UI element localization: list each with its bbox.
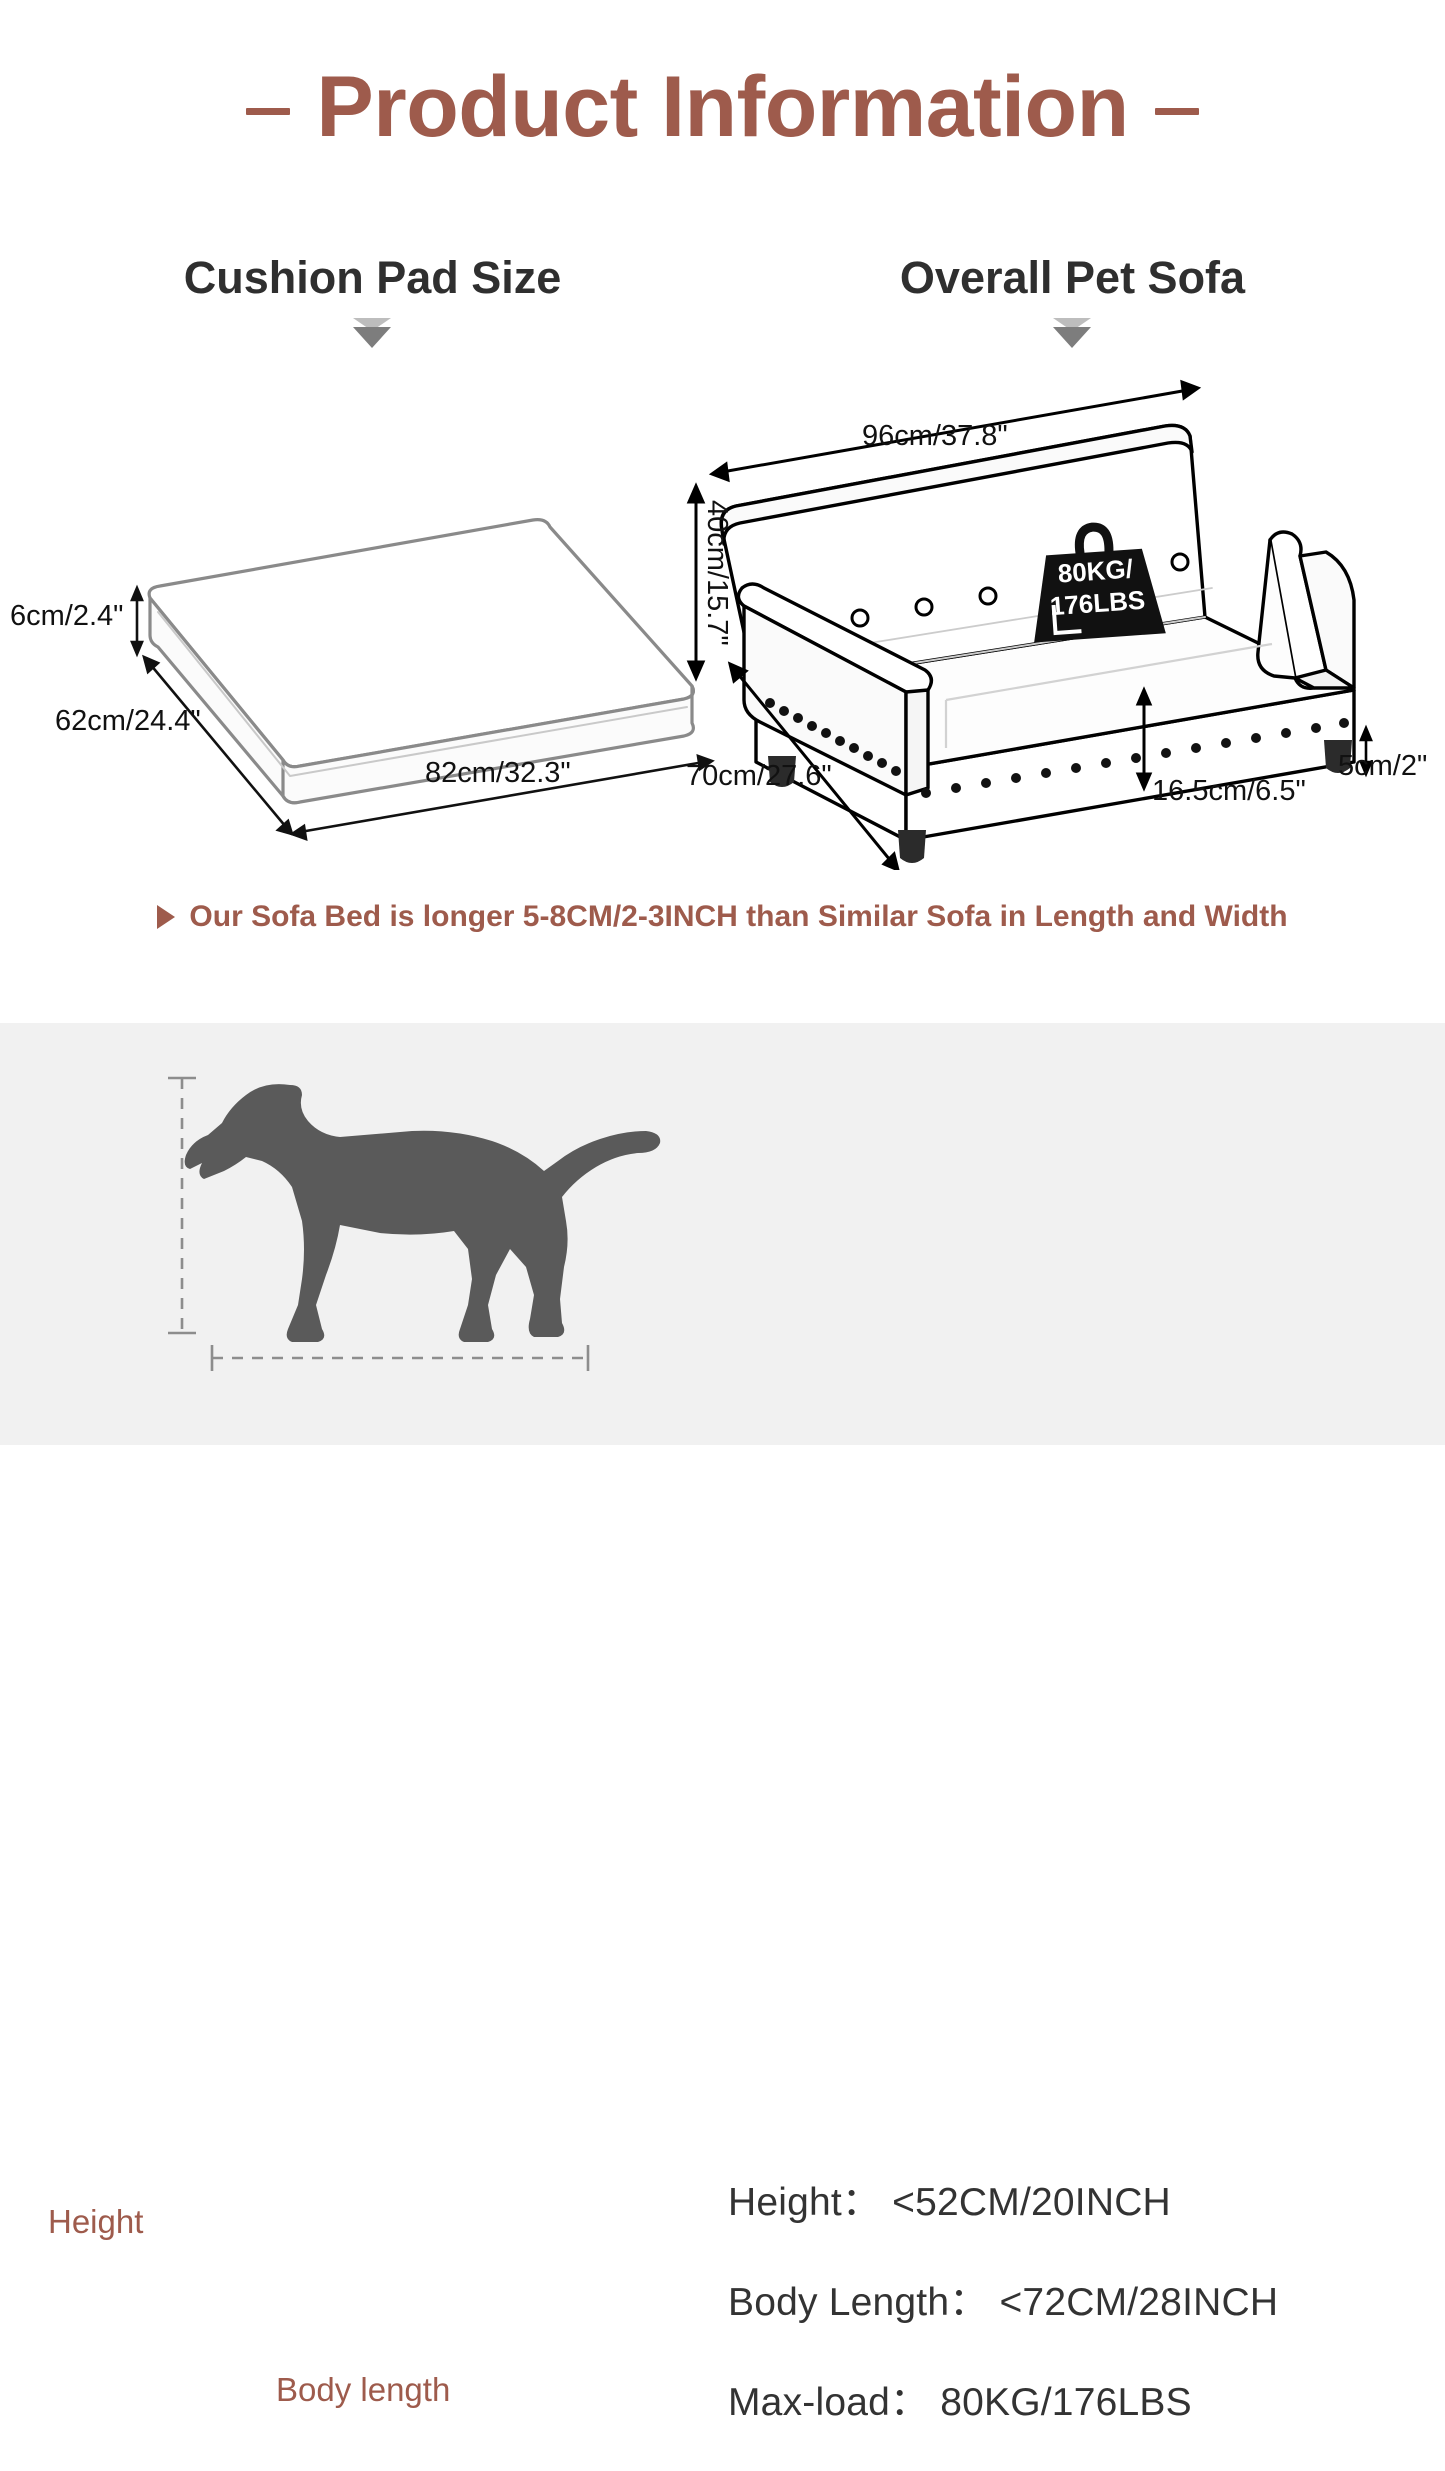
cushion-depth-label: 62cm/24.4" bbox=[55, 705, 201, 738]
cushion-pad-illustration bbox=[0, 500, 720, 860]
spec-row-max-load: Max-load： 80KG/176LBS bbox=[728, 2371, 1368, 2427]
cushion-thickness-label: 6cm/2.4" bbox=[10, 600, 123, 633]
sofa-depth-label: 70cm/27.6" bbox=[686, 760, 832, 793]
dog-size-diagram bbox=[40, 1043, 680, 1433]
cushion-width-label: 82cm/32.3" bbox=[425, 757, 571, 790]
cushion-section-header: Cushion Pad Size bbox=[100, 252, 645, 304]
title-dash-left bbox=[246, 108, 290, 115]
spec-list: Height： <52CM/20INCH Body Length： <72CM/… bbox=[728, 2171, 1368, 2471]
sofa-legroom-label: 16.5cm/6.5" bbox=[1152, 775, 1306, 808]
spec-row-body-length: Body Length： <72CM/28INCH bbox=[728, 2271, 1368, 2327]
dog-body-length-axis-label: Body length bbox=[276, 2371, 450, 2409]
page-title-text: Product Information bbox=[316, 58, 1128, 157]
double-chevron-down-icon bbox=[1049, 316, 1095, 350]
pet-size-guide-section: Height Body length Height： <52CM/20INCH … bbox=[0, 1023, 1445, 1445]
weight-tag-icon bbox=[1015, 507, 1176, 655]
top-section: Product Information Cushion Pad Size Ove… bbox=[0, 0, 1445, 1023]
page-title: Product Information bbox=[0, 58, 1445, 157]
tagline-text: Our Sofa Bed is longer 5-8CM/2-3INCH tha… bbox=[189, 900, 1287, 934]
triangle-right-icon bbox=[157, 905, 175, 929]
dog-height-axis-label: Height bbox=[48, 2203, 143, 2241]
sofa-height-label: 40cm/15.7" bbox=[700, 500, 733, 646]
title-dash-right bbox=[1155, 108, 1199, 115]
sofa-section-header: Overall Pet Sofa bbox=[800, 252, 1345, 304]
max-load-weight-badge: 80KG/ 176LBS bbox=[1015, 507, 1176, 655]
sofa-leg-height-label: 5cm/2" bbox=[1338, 750, 1427, 783]
tagline-banner: Our Sofa Bed is longer 5-8CM/2-3INCH tha… bbox=[0, 900, 1445, 934]
sofa-width-label: 96cm/37.8" bbox=[862, 420, 1008, 453]
double-chevron-down-icon bbox=[349, 316, 395, 350]
spec-row-height: Height： <52CM/20INCH bbox=[728, 2171, 1368, 2227]
